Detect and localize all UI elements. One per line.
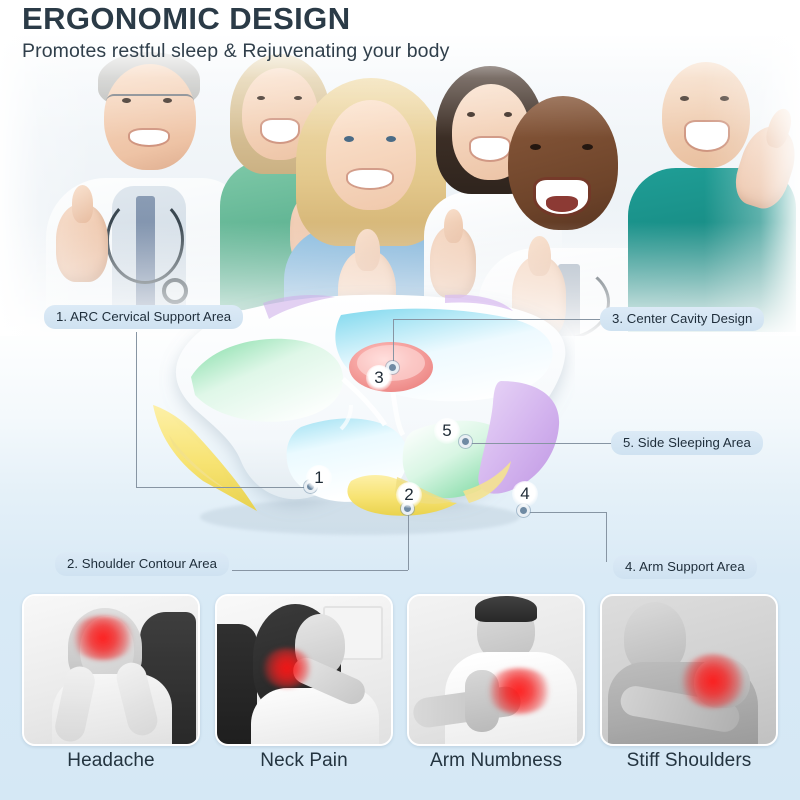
man-hair [475,596,537,622]
connector-4-vertical [606,512,607,562]
page-subtitle: Promotes restful sleep & Rejuvenating yo… [22,40,449,63]
pain-highlight-forearm [485,668,553,714]
connector-5-horizontal [470,443,612,444]
condition-card-headache[interactable] [22,594,200,746]
condition-caption-stiff-shoulders: Stiff Shoulders [600,750,778,772]
condition-card-arm-numbness[interactable] [407,594,585,746]
callout-number-3: 3 [366,365,392,391]
page-title: ERGONOMIC DESIGN [22,2,449,35]
header: ERGONOMIC DESIGN Promotes restful sleep … [22,2,449,63]
condition-card-neck-pain[interactable] [215,594,393,746]
condition-caption-neck-pain: Neck Pain [215,750,393,772]
condition-caption-arm-numbness: Arm Numbness [407,750,585,772]
pain-highlight-forehead [70,616,136,660]
ergonomic-design-poster: ERGONOMIC DESIGN Promotes restful sleep … [0,0,800,800]
connector-3-horizontal [393,319,601,320]
callout-label-3[interactable]: 3. Center Cavity Design [600,307,764,331]
connector-4-horizontal [528,512,606,513]
connector-1-horizontal [136,487,316,488]
callout-dot-5[interactable] [459,435,472,448]
connector-2-vertical [408,512,409,570]
pain-highlight-shoulder [680,654,746,708]
condition-card-stiff-shoulders[interactable] [600,594,778,746]
callout-number-5: 5 [434,418,460,444]
callout-number-1: 1 [306,465,332,491]
callout-number-4: 4 [512,481,538,507]
callout-label-4[interactable]: 4. Arm Support Area [613,555,757,579]
pain-highlight-neck [261,648,313,688]
callout-label-2[interactable]: 2. Shoulder Contour Area [55,552,229,576]
arm-numbness-photo [409,596,583,744]
callout-number-2: 2 [396,482,422,508]
callout-label-5[interactable]: 5. Side Sleeping Area [611,431,763,455]
condition-caption-headache: Headache [22,750,200,772]
connector-1-vertical [136,332,137,487]
callout-label-1[interactable]: 1. ARC Cervical Support Area [44,305,243,329]
condition-cards: Headache Neck Pain [0,590,800,800]
connector-2-horizontal [232,570,408,571]
